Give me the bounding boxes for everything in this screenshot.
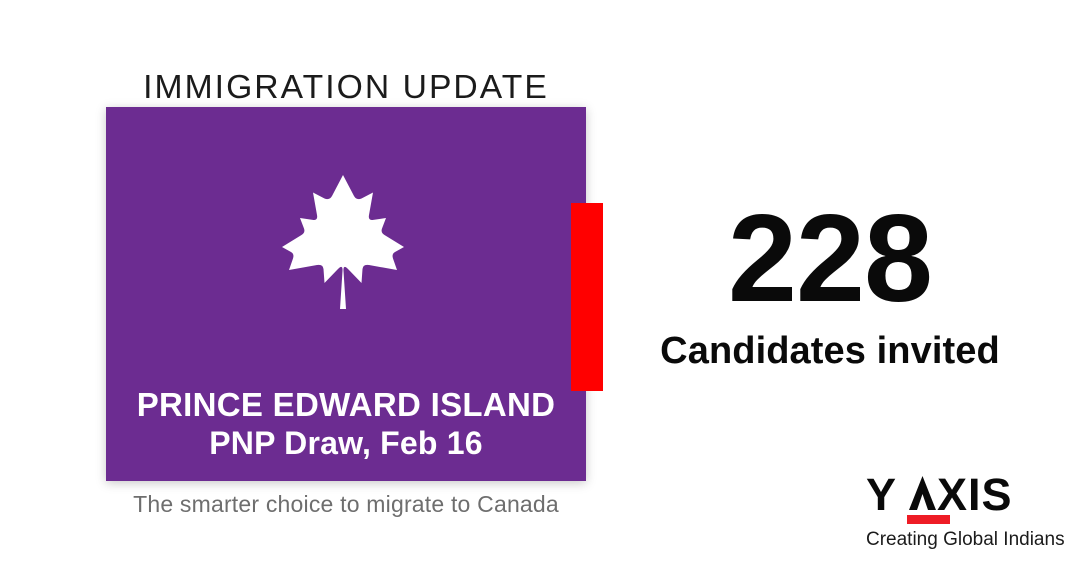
invited-count: 228 [620,196,1040,322]
logo-letter-y: Y [866,472,897,517]
card-subtitle: PNP Draw, Feb 16 [106,424,586,462]
logo-letters-xis: XIS [937,472,1013,517]
logo-tagline: Creating Global Indians [866,528,1058,552]
logo-word-axis: XIS [909,472,1013,517]
page-title: IMMIGRATION UPDATE [101,66,591,108]
poster-canvas: IMMIGRATION UPDATE PRINCE EDWARD ISLAND … [0,0,1080,566]
red-accent-bar [571,203,603,391]
canada-maple-leaf-icon [279,172,407,312]
brand-tagline: The smarter choice to migrate to Canada [106,489,586,519]
card-title: PRINCE EDWARD ISLAND [106,385,586,424]
invited-count-label: Candidates invited [620,328,1040,374]
logo-wordmark: Y XIS [866,474,1058,514]
y-axis-logo[interactable]: Y XIS Creating Global Indians [866,474,1058,554]
logo-lambda-a-icon [909,476,936,510]
logo-red-underline [907,515,950,524]
